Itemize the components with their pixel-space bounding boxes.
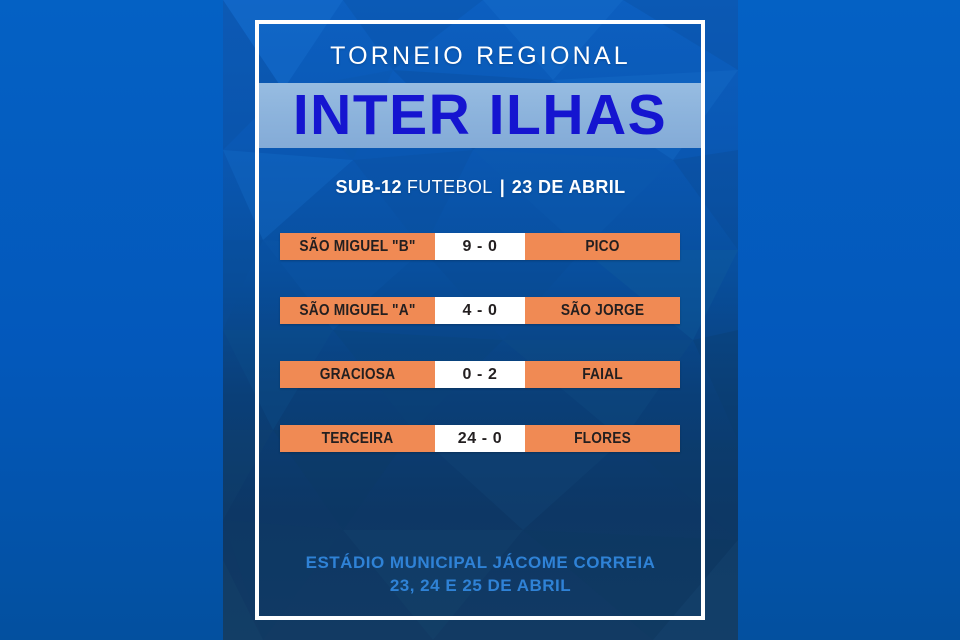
away-team: FLORES: [536, 425, 669, 452]
home-team: SÃO MIGUEL "B": [291, 233, 424, 260]
tournament-title: INTER ILHAS: [259, 83, 701, 148]
match-row: SÃO MIGUEL "B" 9 - 0 PICO: [280, 233, 680, 260]
match-row: TERCEIRA 24 - 0 FLORES: [280, 425, 680, 452]
tournament-kicker: TORNEIO REGIONAL: [223, 44, 738, 69]
subtitle-sport: FUTEBOL: [407, 177, 493, 197]
home-team: GRACIOSA: [291, 361, 424, 388]
match-row: SÃO MIGUEL "A" 4 - 0 SÃO JORGE: [280, 297, 680, 324]
away-team: SÃO JORGE: [536, 297, 669, 324]
event-subtitle: SUB-12 FUTEBOL | 23 DE ABRIL: [223, 178, 738, 196]
match-score: 9 - 0: [435, 233, 525, 260]
subtitle-date: 23 DE ABRIL: [512, 177, 626, 197]
match-score: 4 - 0: [435, 297, 525, 324]
match-results-list: SÃO MIGUEL "B" 9 - 0 PICO SÃO MIGUEL "A"…: [280, 233, 680, 452]
subtitle-separator: |: [498, 177, 507, 197]
match-row: GRACIOSA 0 - 2 FAIAL: [280, 361, 680, 388]
match-score: 0 - 2: [435, 361, 525, 388]
poster-stage: TORNEIO REGIONAL INTER ILHAS SUB-12 FUTE…: [0, 0, 960, 640]
poster-footer: ESTÁDIO MUNICIPAL JÁCOME CORREIA 23, 24 …: [223, 551, 738, 597]
venue-name: ESTÁDIO MUNICIPAL JÁCOME CORREIA: [223, 551, 738, 574]
subtitle-category: SUB-12: [335, 177, 401, 197]
away-team: FAIAL: [536, 361, 669, 388]
away-team: PICO: [536, 233, 669, 260]
home-team: SÃO MIGUEL "A": [291, 297, 424, 324]
tournament-poster: TORNEIO REGIONAL INTER ILHAS SUB-12 FUTE…: [223, 0, 738, 640]
home-team: TERCEIRA: [291, 425, 424, 452]
event-dates: 23, 24 E 25 DE ABRIL: [223, 574, 738, 597]
match-score: 24 - 0: [435, 425, 525, 452]
